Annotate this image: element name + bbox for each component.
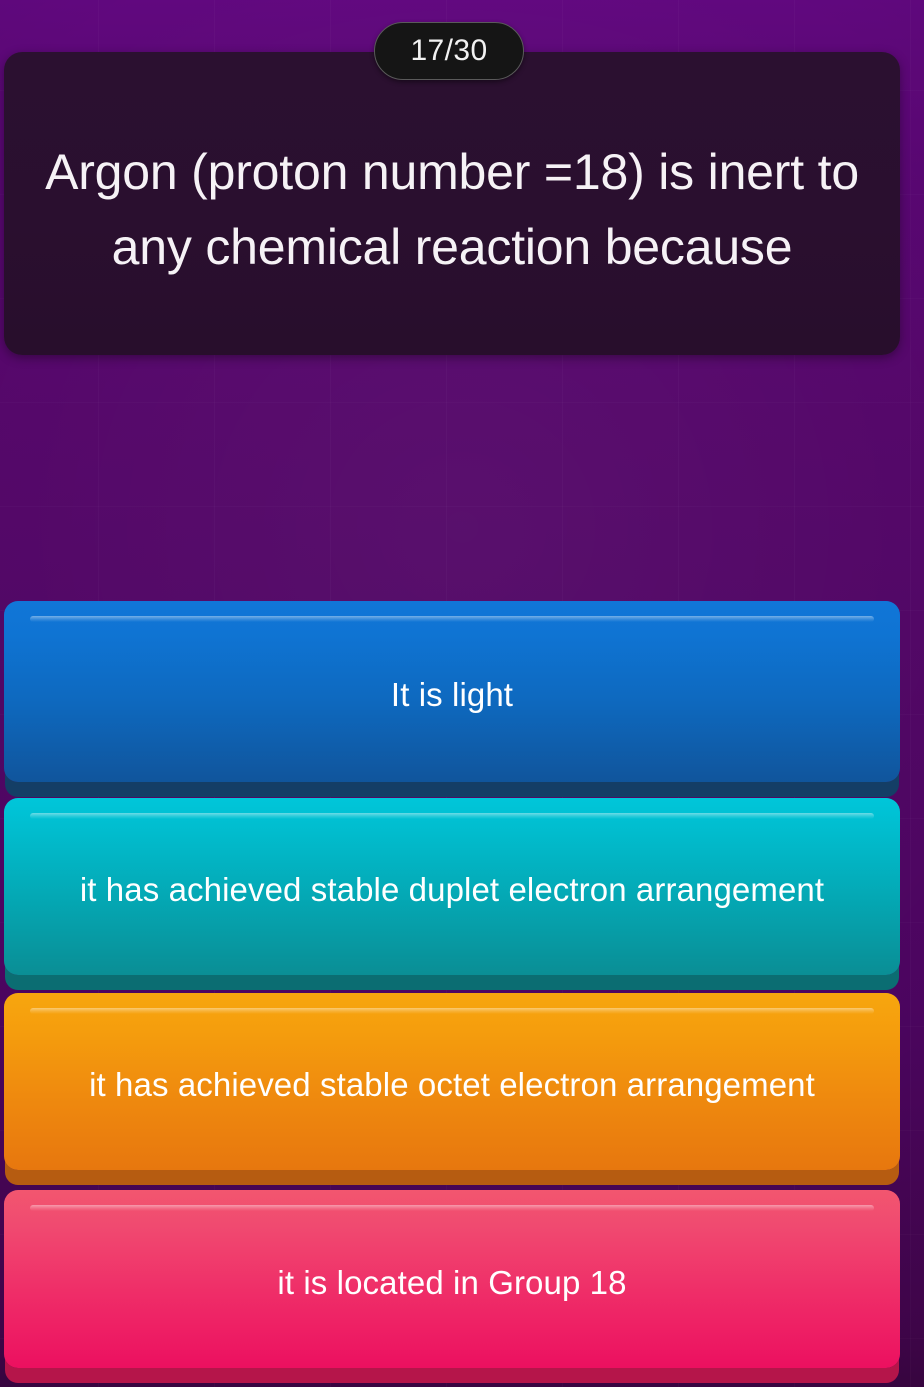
question-counter-label: 17/30 bbox=[410, 36, 487, 66]
answer-option-3-label: it has achieved stable octet electron ar… bbox=[89, 1060, 815, 1110]
answer-option-3-button[interactable]: it has achieved stable octet electron ar… bbox=[4, 993, 900, 1170]
question-card: Argon (proton number =18) is inert to an… bbox=[4, 52, 900, 355]
question-counter-badge: 17/30 bbox=[374, 22, 524, 80]
answer-option-4-button[interactable]: it is located in Group 18 bbox=[4, 1190, 900, 1368]
question-text: Argon (proton number =18) is inert to an… bbox=[26, 135, 878, 284]
quiz-screen: 17/30 Argon (proton number =18) is inert… bbox=[0, 0, 924, 1387]
answer-option-1-button[interactable]: It is light bbox=[4, 601, 900, 782]
answer-option-2-button[interactable]: it has achieved stable duplet electron a… bbox=[4, 798, 900, 975]
answer-option-2-label: it has achieved stable duplet electron a… bbox=[80, 865, 824, 915]
answer-option-1-label: It is light bbox=[391, 670, 513, 720]
answer-option-4-label: it is located in Group 18 bbox=[277, 1258, 626, 1308]
